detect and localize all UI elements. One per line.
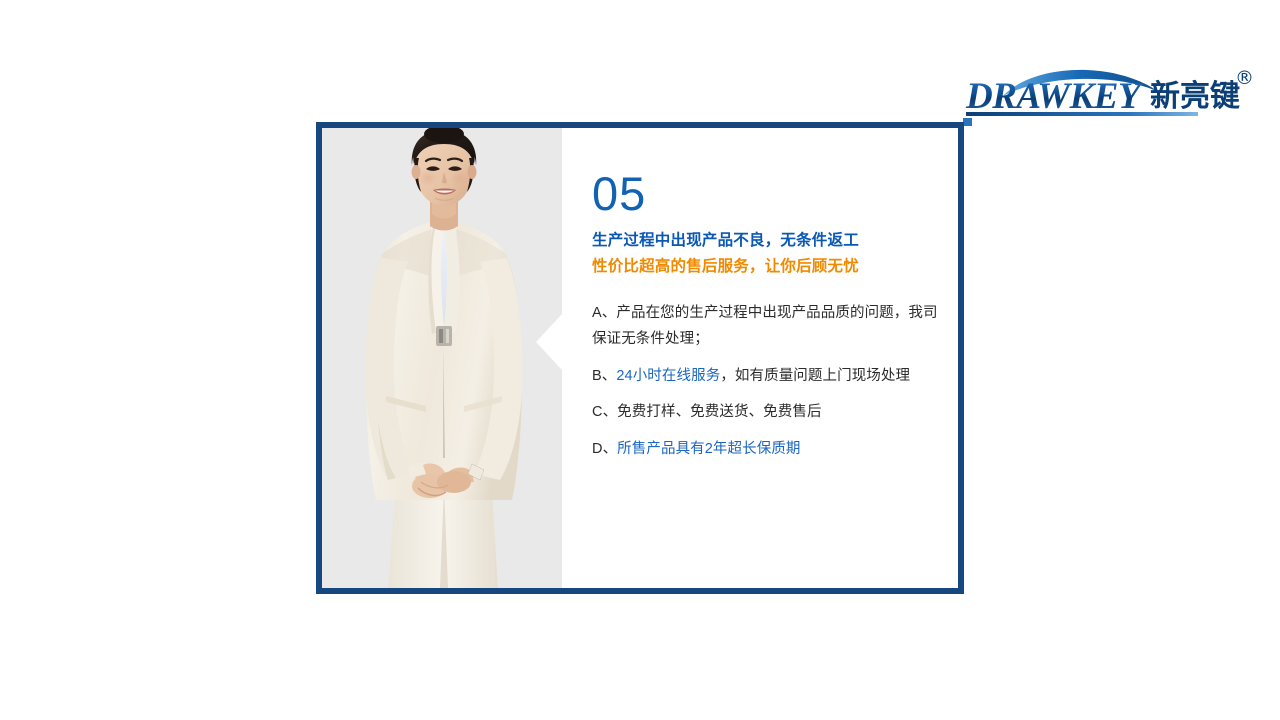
logo-corner-block: [963, 118, 972, 126]
headline-secondary: 性价比超高的售后服务，让你后顾无忧: [592, 256, 940, 278]
list-item: D、所售产品具有2年超长保质期: [592, 436, 940, 462]
item-label: C、: [592, 404, 617, 420]
feature-text-panel: 05 生产过程中出现产品不良，无条件返工 性价比超高的售后服务，让你后顾无忧 A…: [562, 128, 958, 588]
logo-underline: [966, 112, 1198, 116]
item-text: ，如有质量问题上门现场处理: [720, 368, 910, 384]
list-item: A、产品在您的生产过程中出现产品品质的问题，我司保证无条件处理；: [592, 300, 940, 353]
service-feature-card: 05 生产过程中出现产品不良，无条件返工 性价比超高的售后服务，让你后顾无忧 A…: [316, 122, 964, 594]
headline-primary: 生产过程中出现产品不良，无条件返工: [592, 230, 940, 252]
portrait-panel: [322, 128, 562, 588]
brand-logo: DRAWKEY 新亮键 ®: [963, 58, 1263, 126]
list-item: B、24小时在线服务，如有质量问题上门现场处理: [592, 363, 940, 389]
logo-chinese-name: 新亮键: [1150, 79, 1240, 114]
registered-trademark-icon: ®: [1235, 67, 1254, 89]
logo-wordmark: DRAWKEY: [965, 76, 1144, 117]
card-inner: 05 生产过程中出现产品不良，无条件返工 性价比超高的售后服务，让你后顾无忧 A…: [322, 128, 958, 588]
item-highlight: 所售产品具有2年超长保质期: [617, 441, 800, 457]
item-text: 产品在您的生产过程中出现产品品质的问题，我司保证无条件处理；: [592, 305, 938, 347]
item-label: D、: [592, 441, 617, 457]
list-item: C、免费打样、免费送货、免费售后: [592, 399, 940, 425]
item-label: B、: [592, 368, 616, 384]
item-text: 免费打样、免费送货、免费售后: [617, 404, 821, 420]
service-detail-list: A、产品在您的生产过程中出现产品品质的问题，我司保证无条件处理； B、24小时在…: [592, 300, 940, 462]
businesswoman-portrait-image: [322, 128, 562, 588]
step-number: 05: [592, 170, 940, 217]
item-label: A、: [592, 305, 616, 321]
item-highlight: 24小时在线服务: [616, 368, 720, 384]
